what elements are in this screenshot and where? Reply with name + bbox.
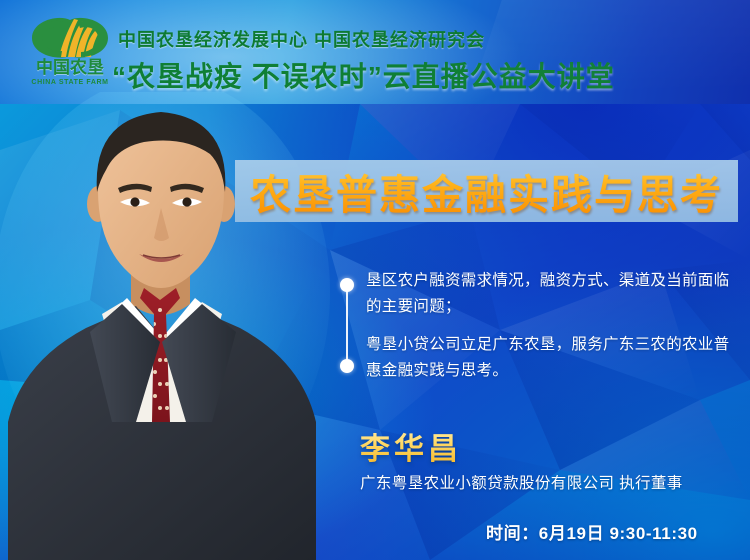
topic-item: 粤垦小贷公司立足广东农垦，服务广东三农的农业普惠金融实践与思考。	[366, 332, 742, 384]
logo-cn-label: 中国农垦	[28, 58, 112, 77]
logo: 中国农垦 CHINA STATE FARM	[28, 14, 112, 92]
main-title: 农垦普惠金融实践与思考	[235, 160, 738, 222]
speaker-name: 李华昌	[360, 424, 462, 468]
bullet-dot-icon	[340, 359, 354, 373]
organizations-label: 中国农垦经济发展中心 中国农垦经济研究会	[118, 26, 485, 52]
topics-body: 垦区农户融资需求情况，融资方式、渠道及当前面临的主要问题； 粤垦小贷公司立足广东…	[366, 268, 742, 384]
poster-header: 中国农垦 CHINA STATE FARM 中国农垦经济发展中心 中国农垦经济研…	[0, 0, 750, 104]
logo-en-label: CHINA STATE FARM	[28, 78, 112, 87]
program-title-label: “农垦战疫 不误农时”云直播公益大讲堂	[112, 55, 615, 95]
topics-rail	[340, 278, 354, 373]
schedule-time: 时间：6月19日 9:30-11:30	[486, 519, 698, 544]
china-state-farm-emblem-icon	[28, 14, 112, 60]
topic-item: 垦区农户融资需求情况，融资方式、渠道及当前面临的主要问题；	[366, 268, 742, 320]
rail-line	[346, 284, 348, 370]
title-band: 农垦普惠金融实践与思考	[235, 160, 738, 222]
webinar-poster: 中国农垦 CHINA STATE FARM 中国农垦经济发展中心 中国农垦经济研…	[0, 0, 750, 560]
speaker-title: 广东粤垦农业小额贷款股份有限公司 执行董事	[360, 471, 683, 493]
bullet-dot-icon	[340, 278, 354, 292]
